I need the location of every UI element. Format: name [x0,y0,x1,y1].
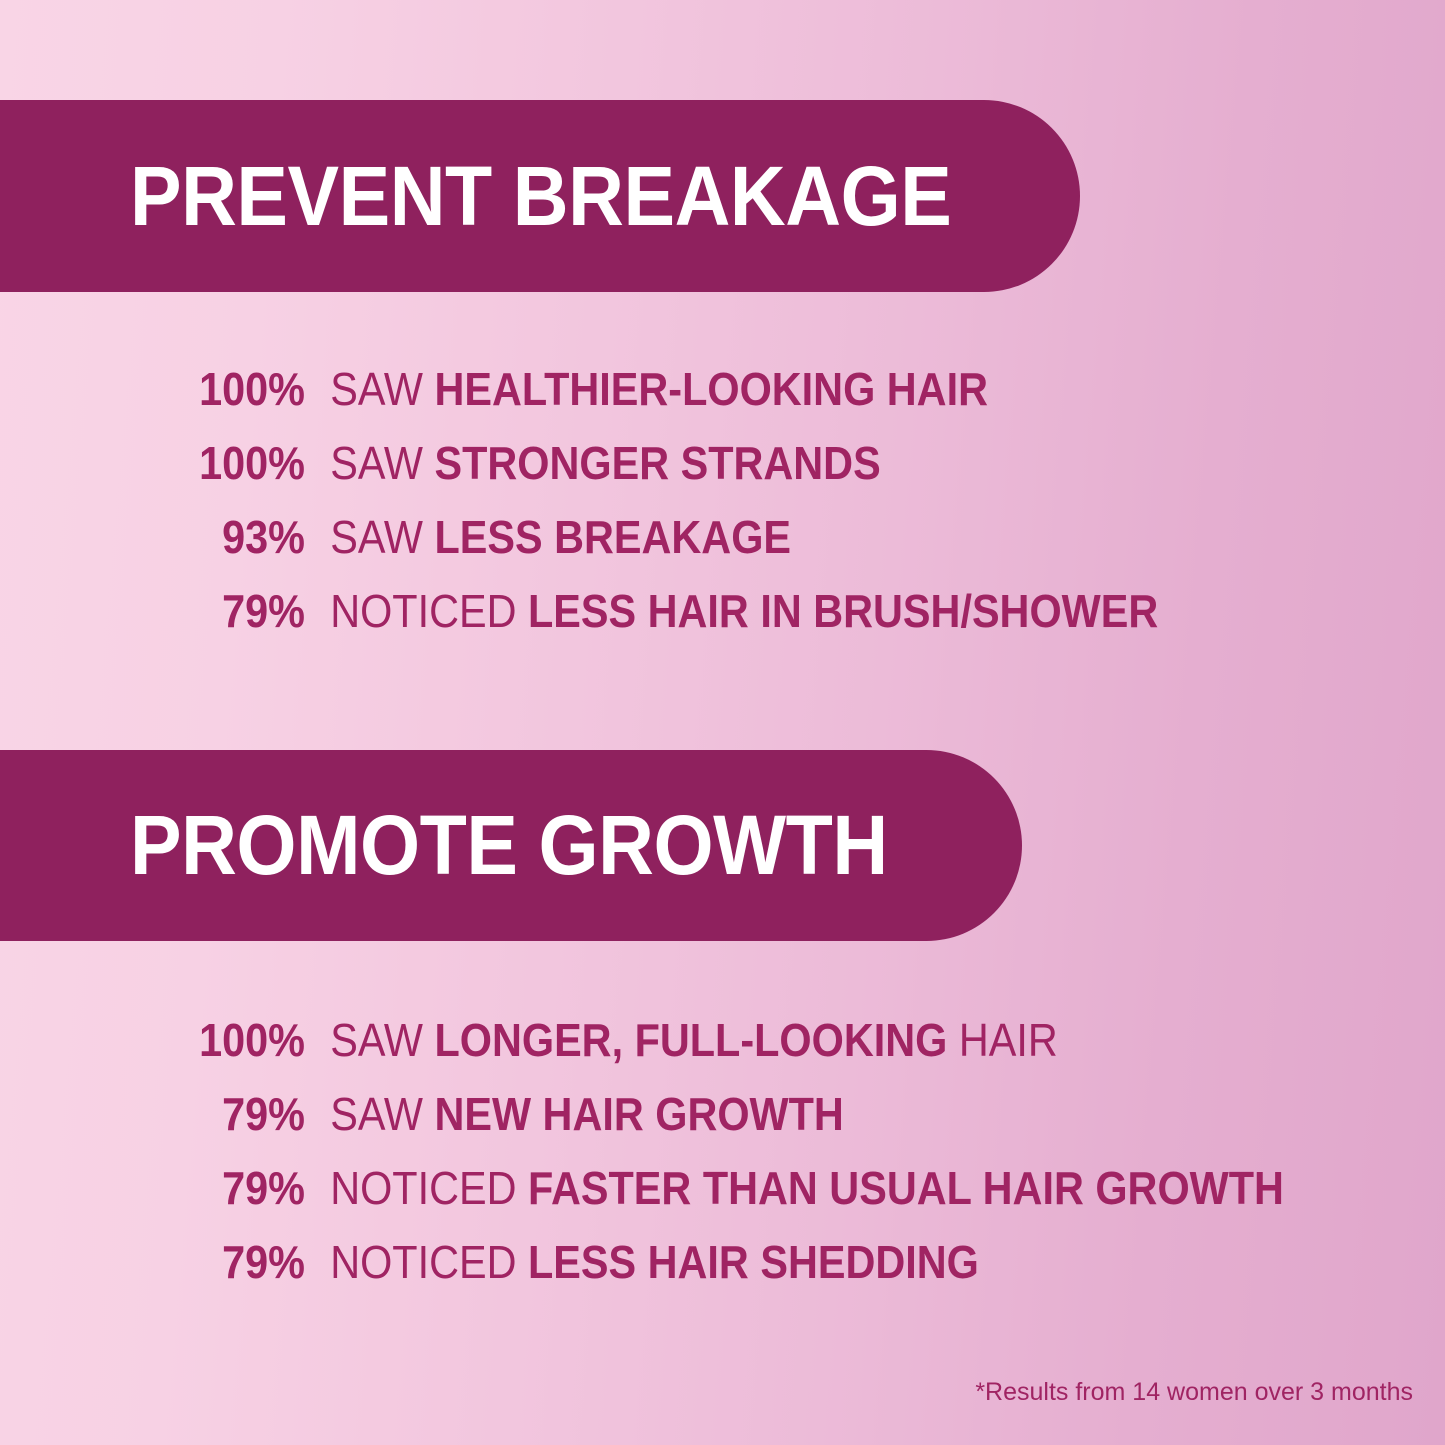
stat-verb: SAW [330,437,423,489]
stat-statement: SAW NEW HAIR GROWTH [305,1091,844,1137]
stat-row: 100% SAW LONGER, FULL-LOOKING HAIR [0,1013,1445,1087]
stat-emphasis: LESS HAIR SHEDDING [528,1236,979,1288]
stat-verb: SAW [330,1014,423,1066]
stat-verb: NOTICED [330,1236,516,1288]
stat-statement: SAW LESS BREAKAGE [305,514,791,560]
stat-verb: NOTICED [330,585,516,637]
stat-percentage: 79% [31,1087,306,1141]
stat-emphasis: STRONGER STRANDS [434,437,880,489]
stat-verb: SAW [330,1088,423,1140]
stat-row: 100% SAW STRONGER STRANDS [0,436,1445,510]
stat-row: 79% NOTICED FASTER THAN USUAL HAIR GROWT… [0,1161,1445,1235]
stat-statement: SAW LONGER, FULL-LOOKING HAIR [305,1017,1058,1063]
stat-verb: SAW [330,511,423,563]
stat-verb: NOTICED [330,1162,516,1214]
stat-emphasis: LESS BREAKAGE [434,511,791,563]
stat-row: 93% SAW LESS BREAKAGE [0,510,1445,584]
stat-emphasis: LESS HAIR IN BRUSH/SHOWER [528,585,1158,637]
stat-row: 79% NOTICED LESS HAIR IN BRUSH/SHOWER [0,584,1445,658]
stat-row: 79% SAW NEW HAIR GROWTH [0,1087,1445,1161]
stat-percentage: 79% [31,1161,306,1215]
footnote-disclaimer: *Results from 14 women over 3 months [975,1378,1413,1407]
stat-statement: SAW HEALTHIER-LOOKING HAIR [305,366,988,412]
stat-emphasis: FASTER THAN USUAL HAIR GROWTH [528,1162,1284,1214]
banner-title-promote-growth: PROMOTE GROWTH [130,806,888,885]
stat-percentage: 100% [31,362,306,416]
stat-emphasis: HEALTHIER-LOOKING HAIR [434,363,988,415]
stat-percentage: 79% [31,584,306,638]
stat-row: 100% SAW HEALTHIER-LOOKING HAIR [0,362,1445,436]
stats-list-prevent-breakage: 100% SAW HEALTHIER-LOOKING HAIR 100% SAW… [0,362,1445,658]
results-infographic: PREVENT BREAKAGE 100% SAW HEALTHIER-LOOK… [0,0,1445,1445]
stat-row: 79% NOTICED LESS HAIR SHEDDING [0,1235,1445,1309]
stat-statement: NOTICED LESS HAIR IN BRUSH/SHOWER [305,588,1158,634]
section-banner-promote-growth: PROMOTE GROWTH [0,750,1022,941]
stat-statement: NOTICED FASTER THAN USUAL HAIR GROWTH [305,1165,1284,1211]
stat-tail: HAIR [959,1014,1058,1066]
section-banner-prevent-breakage: PREVENT BREAKAGE [0,100,1080,292]
stat-statement: NOTICED LESS HAIR SHEDDING [305,1239,979,1285]
stat-percentage: 93% [31,510,306,564]
stats-list-promote-growth: 100% SAW LONGER, FULL-LOOKING HAIR 79% S… [0,1013,1445,1309]
stat-emphasis: LONGER, FULL-LOOKING [434,1014,947,1066]
stat-verb: SAW [330,363,423,415]
stat-percentage: 100% [31,1013,306,1067]
stat-statement: SAW STRONGER STRANDS [305,440,881,486]
stat-percentage: 79% [31,1235,306,1289]
banner-title-prevent-breakage: PREVENT BREAKAGE [130,157,951,236]
stat-percentage: 100% [31,436,306,490]
stat-emphasis: NEW HAIR GROWTH [434,1088,843,1140]
